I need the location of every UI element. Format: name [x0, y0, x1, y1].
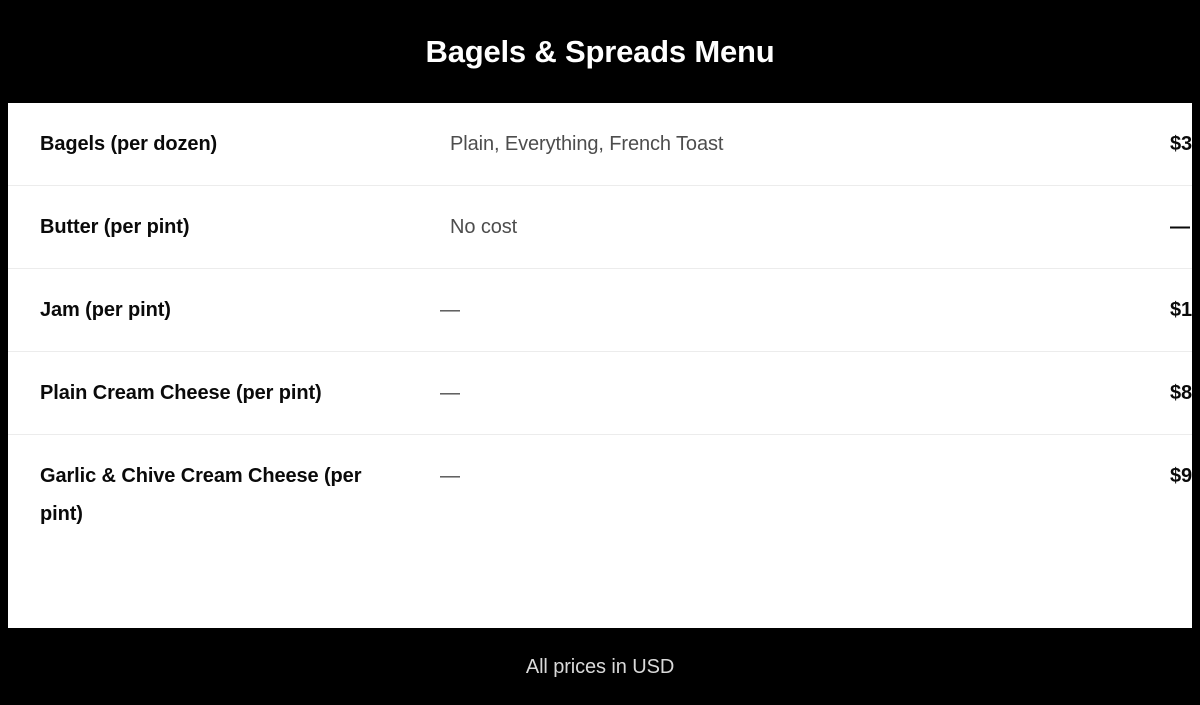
menu-item-price: $9.5: [1160, 435, 1192, 556]
page-title: Bagels & Spreads Menu: [426, 36, 775, 67]
menu-item-name: Jam (per pint): [8, 269, 440, 352]
menu-footer: All prices in USD: [0, 628, 1200, 705]
menu-item-price: $36: [1160, 103, 1192, 186]
menu-item-price: $10: [1160, 269, 1192, 352]
footer-note: All prices in USD: [526, 657, 674, 677]
menu-item-name: Garlic & Chive Cream Cheese (per pint): [8, 435, 440, 556]
menu-table: Bagels (per dozen) Plain, Everything, Fr…: [8, 103, 1192, 555]
menu-item-description: —: [440, 269, 1160, 352]
menu-body: Bagels (per dozen) Plain, Everything, Fr…: [8, 103, 1192, 628]
table-row: Bagels (per dozen) Plain, Everything, Fr…: [8, 103, 1192, 186]
menu-item-price: $8.5: [1160, 352, 1192, 435]
menu-item-name: Bagels (per dozen): [8, 103, 440, 186]
menu-item-price: —: [1160, 186, 1192, 269]
menu-table-body: Bagels (per dozen) Plain, Everything, Fr…: [8, 103, 1192, 555]
menu-item-name: Plain Cream Cheese (per pint): [8, 352, 440, 435]
menu-item-description: No cost: [440, 186, 1160, 269]
table-row: Jam (per pint) — $10: [8, 269, 1192, 352]
table-row: Plain Cream Cheese (per pint) — $8.5: [8, 352, 1192, 435]
table-row: Butter (per pint) No cost —: [8, 186, 1192, 269]
menu-item-description: —: [440, 435, 1160, 556]
menu-item-name: Butter (per pint): [8, 186, 440, 269]
menu-header: Bagels & Spreads Menu: [0, 0, 1200, 103]
menu-item-description: —: [440, 352, 1160, 435]
menu-item-description: Plain, Everything, French Toast: [440, 103, 1160, 186]
menu-card: Bagels & Spreads Menu Bagels (per dozen)…: [0, 0, 1200, 705]
table-row: Garlic & Chive Cream Cheese (per pint) —…: [8, 435, 1192, 556]
